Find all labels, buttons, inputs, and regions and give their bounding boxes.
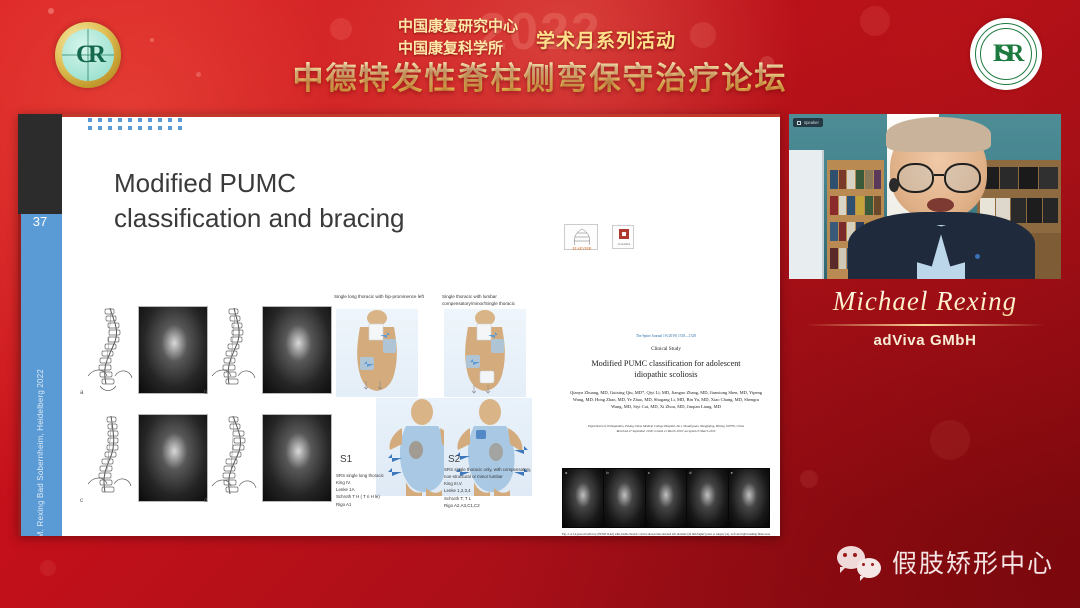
figure-letter: e (731, 470, 733, 475)
case1-torso-illustration (336, 309, 418, 397)
crossmark-logo-icon: CrossMark (612, 225, 634, 249)
bokeh-dot (930, 420, 970, 460)
journal-affiliation: Department of Orthopaedics, Peking Union… (554, 424, 778, 433)
journal-author-list: Qianyu Zhuang, MD, Guixing Qiu, MD*, Qiy… (554, 390, 778, 411)
name-divider (805, 324, 1045, 326)
xray-series-cell: c (646, 469, 686, 527)
xray-radiograph (138, 414, 208, 502)
journal-article-page: The Spine Journal 19 (2019) 1518—1528 Cl… (554, 316, 778, 531)
video-corner-note: adViva (793, 272, 804, 276)
xray-series-cell: d (687, 469, 727, 527)
figure-letter: a (565, 470, 567, 475)
lapel-pin-icon (975, 254, 980, 259)
figure-caption: Fig. 2. A 14-year-old AIS boy (PUMC IIA2… (562, 532, 770, 536)
wechat-icon (837, 546, 881, 578)
brace-cases-column: Single long thoracic with hip-prominence… (334, 294, 534, 524)
spine-diagram-icon (80, 412, 134, 507)
xray-radiograph (262, 306, 332, 394)
case2-torso-illustration (444, 309, 526, 397)
slide-author-credit-text: M. Rexing Bad Sobernheim, Heidelberg 202… (36, 369, 45, 536)
figure-letter: d (689, 470, 691, 475)
figure-letter: c (80, 498, 83, 504)
case1-heading: Single long thoracic with hip-prominence… (334, 294, 426, 301)
eyeglasses-bridge-icon (934, 174, 944, 176)
organizer-line-1: 中国康复研究中心 (398, 16, 518, 38)
dot-row (88, 118, 208, 122)
torso-svg (444, 309, 526, 397)
figure-letter: b (606, 470, 608, 475)
crrc-logo-icon: CR (55, 22, 121, 88)
speaker-video-feed[interactable]: speaker adViva (789, 114, 1061, 279)
slide-title-line-1: Modified PUMC (114, 166, 405, 201)
figure-letter: d (204, 498, 207, 504)
elsevier-wordmark: ELSEVIER (573, 246, 592, 251)
dot-decoration (88, 118, 208, 134)
xray-figure-grid: a b (80, 304, 320, 519)
figure-letter: a (80, 390, 83, 396)
presentation-slide[interactable]: 37 M. Rexing Bad Sobernheim, Heidelberg … (18, 114, 780, 536)
journal-section-label: Clinical Study (554, 346, 778, 352)
journal-article-title: Modified PUMC classification for adolesc… (554, 358, 778, 380)
spine-diagram-icon (204, 412, 258, 507)
crrc-logo-monogram: CR (76, 41, 100, 69)
slide-title-line-2: classification and bracing (114, 201, 405, 236)
spine-diagram-icon (204, 304, 258, 399)
slide-author-credit: M. Rexing Bad Sobernheim, Heidelberg 202… (18, 369, 62, 536)
bokeh-dot (40, 560, 56, 576)
journal-article-column: ELSEVIER CrossMark THE SPINE JOURNAL The… (554, 206, 778, 536)
isr-logo-icon: ISR (970, 18, 1042, 90)
activity-label: 学术月系列活动 (536, 26, 676, 53)
figure-letter: c (648, 470, 650, 475)
video-badge-label: speaker (804, 118, 819, 127)
video-participant-badge[interactable]: speaker (793, 118, 823, 127)
torso-svg (336, 309, 418, 397)
watermark-text: 假肢矫形中心 (892, 544, 1054, 580)
video-camera-icon (797, 121, 801, 125)
dot-row (88, 126, 208, 130)
xray-radiograph (262, 414, 332, 502)
forum-title: 中德特发性脊柱侧弯保守治疗论坛 (293, 53, 788, 98)
journal-issue-line: The Spine Journal 19 (2019) 1518—1528 (554, 334, 778, 338)
svg-text:CrossMark: CrossMark (618, 242, 631, 246)
case2-heading: Single thoracic with lumbar compensatory… (442, 294, 534, 308)
xray-series-cell: e (729, 469, 769, 527)
slide-top-accent-bar (18, 114, 780, 117)
figure-letter: b (204, 390, 207, 396)
xray-series-cell: a (563, 469, 603, 527)
earphone-icon (889, 178, 899, 192)
slide-dark-corner (18, 114, 62, 214)
bokeh-dot (800, 470, 818, 488)
elsevier-tree-icon: ELSEVIER (565, 225, 599, 251)
case1-classification-text: SRS single long thoracic King IV. Lenke … (336, 472, 428, 508)
case2-classification-text: SRS single thoracic only, with compensat… (444, 466, 536, 509)
eyeglasses-right-lens-icon (944, 163, 981, 193)
speaker-hair (886, 117, 991, 152)
xray-series-strip: a b c d e (562, 468, 770, 528)
slide-number: 37 (18, 214, 62, 229)
eyeglasses-left-lens-icon (897, 163, 934, 193)
channel-watermark: 假肢矫形中心 (837, 544, 1054, 580)
spine-diagram-icon (80, 304, 134, 399)
isr-logo-monogram: ISR (993, 40, 1020, 68)
slide-title: Modified PUMC classification and bracing (114, 166, 405, 236)
door-object (789, 150, 824, 279)
speaker-portrait (871, 121, 1012, 279)
case2-s-label: S2 (448, 454, 460, 465)
crossmark-icon: CrossMark (613, 226, 635, 250)
xray-radiograph (138, 306, 208, 394)
elsevier-logo-icon: ELSEVIER (564, 224, 598, 250)
event-header: CR 2022 中国康复研究中心 中国康复科学所 学术月系列活动 中德特发性脊柱… (0, 0, 1080, 110)
journal-title-line-1: Modified PUMC classification for adolesc… (554, 358, 778, 369)
speaker-name: Michael Rexing (789, 286, 1061, 317)
broadcast-screen: CR 2022 中国康复研究中心 中国康复科学所 学术月系列活动 中德特发性脊柱… (0, 0, 1080, 608)
case1-s-label: S1 (340, 454, 352, 465)
journal-title-line-2: idiopathic scoliosis (554, 369, 778, 380)
speaker-organization: adViva GMbH (789, 332, 1061, 349)
xray-series-cell: b (604, 469, 644, 527)
